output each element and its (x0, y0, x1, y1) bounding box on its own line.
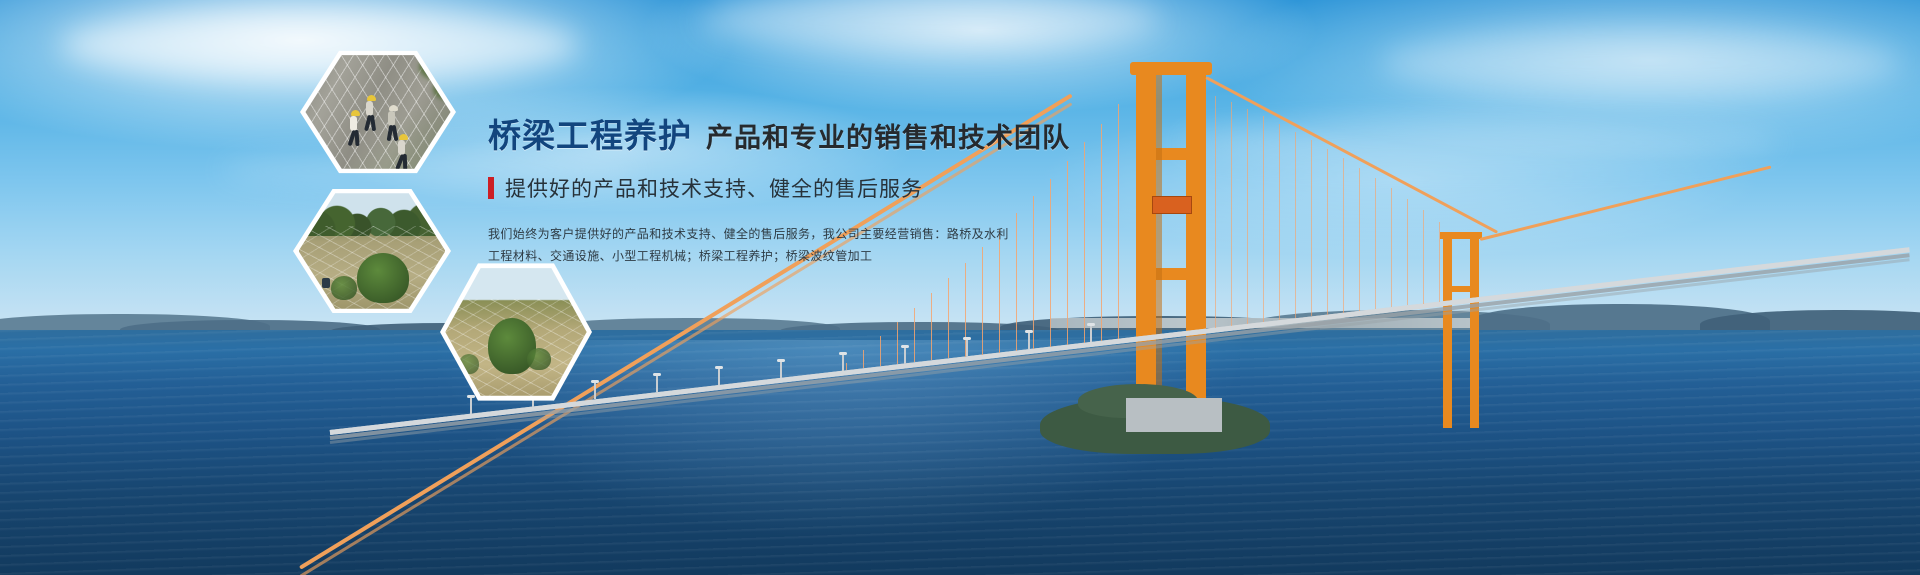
bridge-hanger (1439, 222, 1440, 302)
bridge-pylon-top-cap (1130, 62, 1212, 75)
bridge-hanger (1016, 213, 1017, 350)
subheadline-text: 提供好的产品和技术支持、健全的售后服务 (505, 173, 923, 203)
headline-primary: 桥梁工程养护 (488, 118, 692, 154)
accent-bar-icon (488, 177, 494, 199)
bridge-hanger (1391, 188, 1392, 307)
bridge-hanger (1231, 102, 1232, 326)
bridge-lamp-post (780, 361, 782, 378)
banner-headline: 桥梁工程养护 产品和专业的销售和技术团队 (488, 118, 1008, 154)
hex-photo-3[interactable] (440, 259, 592, 405)
bridge-hanger (1215, 96, 1216, 328)
bridge-hanger (1375, 178, 1376, 309)
bridge-hanger (914, 308, 915, 362)
bridge-hanger (1295, 132, 1296, 318)
photo-hillside-slope-protection (299, 190, 446, 313)
bridge-hanger (897, 322, 898, 364)
bridge-lamp-post (842, 354, 844, 371)
bridge-lamp-head (715, 366, 723, 369)
bridge-hanger (1247, 109, 1248, 324)
bridge-lamp-post (966, 339, 968, 356)
bridge-lamp-post (718, 368, 720, 385)
bridge-lamp-head (1025, 330, 1033, 333)
bridge-hanger (1343, 158, 1344, 312)
bridge-lamp-head (1087, 323, 1095, 326)
bridge-hanger (1084, 142, 1085, 342)
bridge-hanger (1263, 116, 1264, 322)
banner-subheadline: 提供好的产品和技术支持、健全的售后服务 (488, 173, 1008, 203)
bridge-pylon-right-leg (1186, 62, 1206, 422)
headline-secondary: 产品和专业的销售和技术团队 (706, 124, 1070, 154)
bridge-lamp-post (1028, 332, 1030, 349)
bridge-main-cable-right (1205, 76, 1498, 234)
bridge-hanger (1359, 168, 1360, 311)
suspension-bridge (0, 0, 1920, 575)
bridge-far-pylon-right-leg (1470, 232, 1479, 428)
bridge-pylon-crossbeam-upper (1136, 148, 1206, 160)
bridge-hanger (863, 350, 864, 368)
photo-rock-slope-mesh (305, 52, 450, 173)
bridge-far-pylon-crossbeam (1446, 286, 1478, 292)
bridge-lamp-head (901, 345, 909, 348)
bridge-far-pylon-left-leg (1443, 232, 1452, 428)
bridge-hanger (1407, 199, 1408, 305)
bridge-hanger (1311, 140, 1312, 316)
bridge-hanger (1118, 104, 1119, 338)
bridge-pier-block (1126, 398, 1222, 432)
banner-paragraph: 我们始终为客户提供好的产品和技术支持、健全的售后服务，我公司主要经营销售：路桥及… (488, 224, 1008, 267)
hex-photo-2[interactable] (293, 185, 451, 317)
bridge-pylon-shadow (1156, 75, 1162, 422)
bridge-hanger (880, 336, 881, 366)
bridge-pylon-crossbeam-lower (1136, 268, 1206, 280)
banner-text-block: 桥梁工程养护 产品和专业的销售和技术团队 提供好的产品和技术支持、健全的售后服务… (488, 118, 1008, 268)
paragraph-line-1: 我们始终为客户提供好的产品和技术支持、健全的售后服务，我公司主要经营销售：路桥及… (488, 224, 1008, 245)
hex-photo-1[interactable] (300, 47, 456, 177)
bridge-lamp-post (904, 347, 906, 364)
bridge-far-pylon-top-cap (1440, 232, 1482, 239)
bridge-lamp-head (777, 359, 785, 362)
bridge-hanger (1050, 179, 1051, 347)
bridge-hanger (1327, 149, 1328, 314)
bridge-hanger (1423, 210, 1424, 303)
bridge-hanger (1279, 124, 1280, 320)
bridge-lamp-post (1090, 325, 1092, 342)
hero-banner: 桥梁工程养护 产品和专业的销售和技术团队 提供好的产品和技术支持、健全的售后服务… (0, 0, 1920, 575)
bridge-lamp-post (594, 382, 596, 399)
bridge-hanger (1101, 124, 1102, 341)
bridge-hanger (948, 278, 949, 358)
bridge-pylon-left-leg (1136, 62, 1156, 422)
bridge-hanger (1033, 196, 1034, 348)
paragraph-line-2: 工程材料、交通设施、小型工程机械；桥梁工程养护；桥梁波纹管加工 (488, 246, 1008, 267)
bridge-main-cable-backstay (1480, 165, 1772, 240)
bridge-lamp-post (656, 375, 658, 392)
bridge-hanger (931, 293, 932, 360)
bridge-hanger (846, 363, 847, 370)
pylon-sign-plate (1152, 196, 1192, 214)
photo-roadside-slope-greening (445, 264, 586, 400)
bridge-lamp-head (653, 373, 661, 376)
bridge-lamp-head (839, 352, 847, 355)
bridge-hanger (1067, 161, 1068, 345)
bridge-lamp-head (963, 337, 971, 340)
